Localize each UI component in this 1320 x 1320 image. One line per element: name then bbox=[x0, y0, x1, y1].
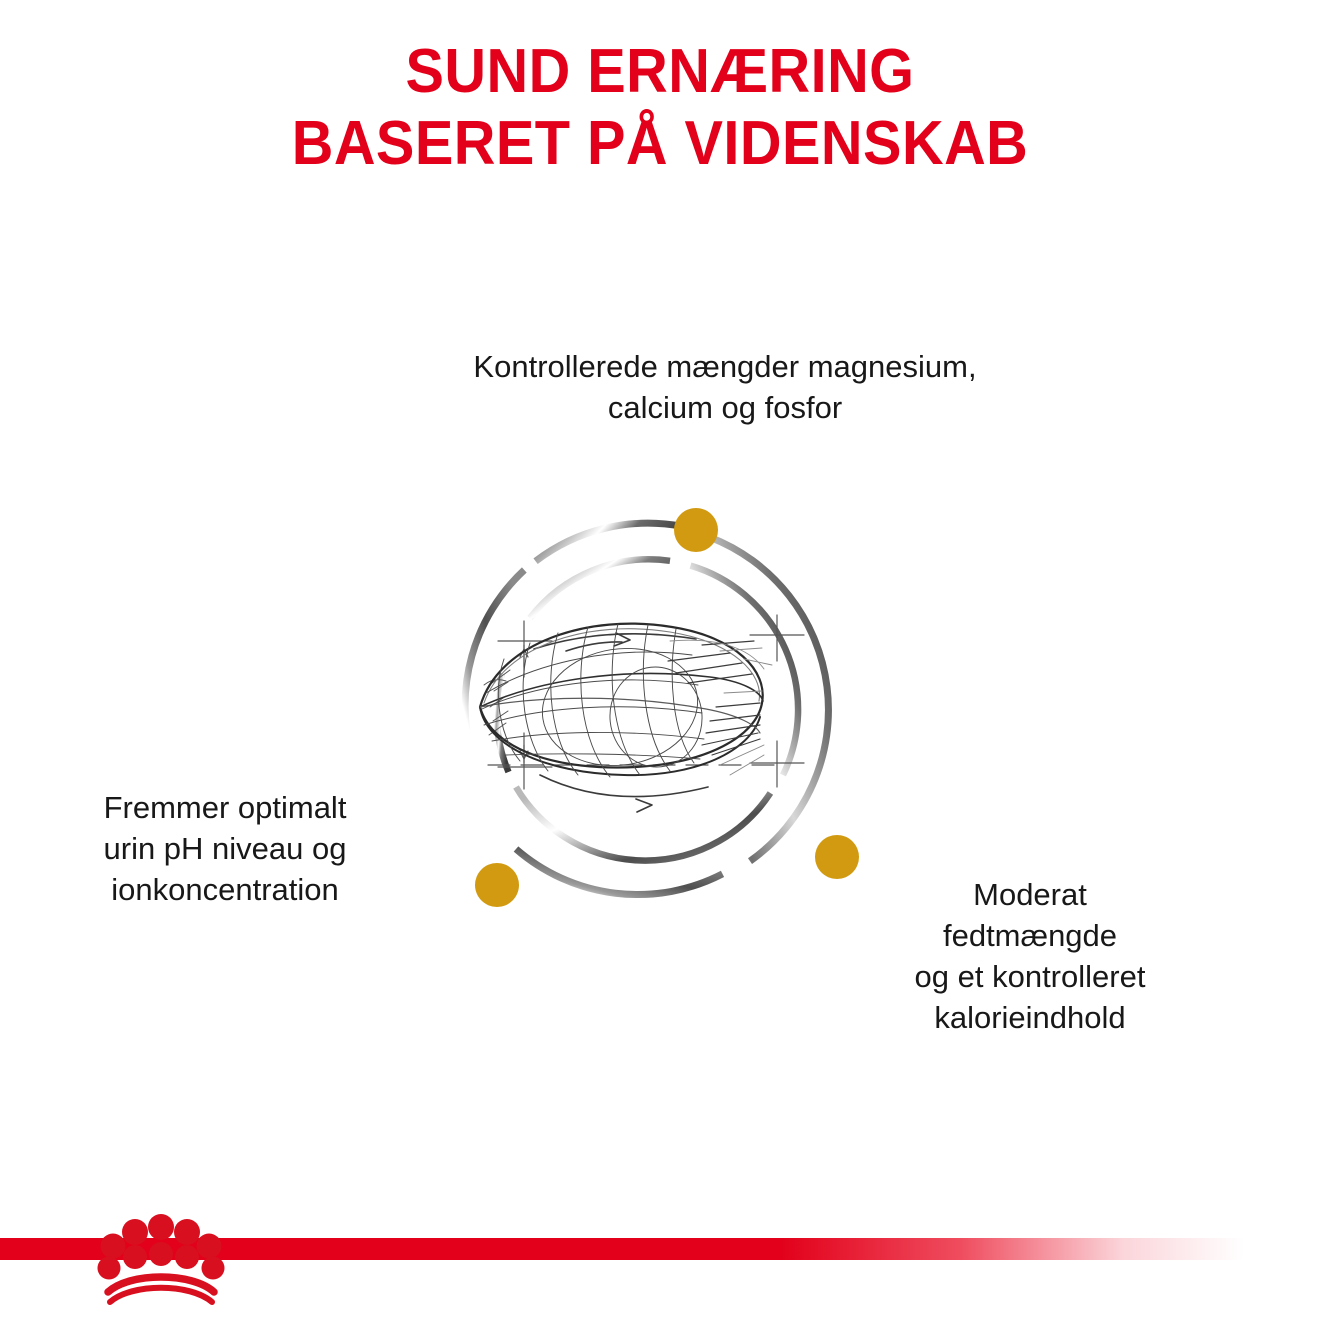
callout-urin-ph-line-2: urin pH niveau og bbox=[30, 828, 420, 869]
footer-bar-right bbox=[234, 1238, 1244, 1260]
callout-magnesium-line-2: calcium og fosfor bbox=[310, 387, 1140, 428]
kibble-technical-sketch bbox=[480, 615, 804, 812]
callout-fedt-kalorier-line-2: fedtmængde bbox=[845, 915, 1215, 956]
callout-urin-ph-line-3: ionkoncentration bbox=[30, 869, 420, 910]
benefits-orbit-diagram bbox=[420, 445, 890, 945]
page-title: SUND ERNÆRING BASERET PÅ VIDENSKAB bbox=[0, 36, 1320, 180]
callout-magnesium-line-1: Kontrollerede mængder magnesium, bbox=[310, 346, 1140, 387]
callout-magnesium: Kontrollerede mængder magnesium, calcium… bbox=[310, 346, 1140, 428]
callout-fedt-kalorier: Moderat fedtmængde og et kontrolleret ka… bbox=[845, 874, 1215, 1038]
sketch-motion-arrows bbox=[534, 633, 708, 812]
title-line-1: SUND ERNÆRING bbox=[46, 36, 1274, 108]
callout-fedt-kalorier-line-1: Moderat bbox=[845, 874, 1215, 915]
kibble-wireframe-mesh bbox=[482, 624, 707, 777]
kibble-soft-hatch bbox=[670, 640, 772, 775]
royal-canin-crown-logo bbox=[86, 1210, 236, 1306]
node-right bbox=[815, 835, 859, 879]
callout-urin-ph: Fremmer optimalt urin pH niveau og ionko… bbox=[30, 787, 420, 910]
crown-dots bbox=[98, 1214, 225, 1280]
callout-urin-ph-line-1: Fremmer optimalt bbox=[30, 787, 420, 828]
crown-arcs bbox=[108, 1277, 214, 1302]
footer bbox=[0, 1210, 1320, 1320]
callout-fedt-kalorier-line-3: og et kontrolleret bbox=[845, 956, 1215, 997]
orbit-ring-inner bbox=[497, 559, 799, 860]
callout-fedt-kalorier-line-4: kalorieindhold bbox=[845, 997, 1215, 1038]
sketch-construction-marks bbox=[484, 615, 804, 789]
node-bottom-left bbox=[475, 863, 519, 907]
node-top bbox=[674, 508, 718, 552]
title-line-2: BASERET PÅ VIDENSKAB bbox=[46, 108, 1274, 180]
